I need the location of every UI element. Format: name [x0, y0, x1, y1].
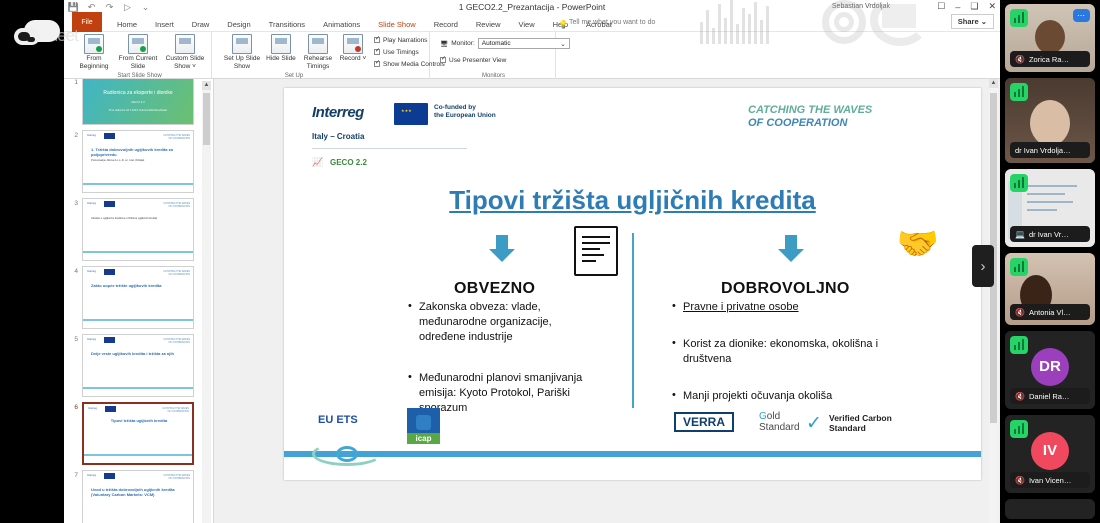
- thumbnail-row-4[interactable]: 4 Interreg CATCHING THE WAVESOF COOPERAT…: [64, 266, 213, 329]
- custom-slide-show-label: Custom Slide Show ˅: [161, 55, 209, 70]
- title-bar: 💾 ↶ ↷ ▷ ⌄ 1 GECO2.2_Prezantacija - Power…: [64, 0, 1000, 18]
- thumb-wave: [83, 319, 193, 321]
- right-heading: DOBROVOLJNO: [721, 280, 850, 298]
- mic-muted-icon: 🔇: [1015, 55, 1025, 64]
- verified-carbon-standard-logo: Verified CarbonStandard: [829, 413, 892, 433]
- eu-funding-text: Co-funded bythe European Union: [434, 104, 496, 120]
- bullet-item: Korist za dionike: ekonomska, okolišna i…: [672, 337, 922, 367]
- thumb-wave: [83, 251, 193, 253]
- tab-draw[interactable]: Draw: [183, 18, 219, 32]
- network-quality-icon: [1010, 420, 1028, 438]
- thumb-eu-flag-icon: [105, 406, 116, 412]
- rehearse-timings-icon: [308, 34, 328, 54]
- thumbnail-row-7[interactable]: 7 Interreg CATCHING THE WAVESOF COOPERAT…: [64, 470, 213, 523]
- thumb-tagline: CATCHING THE WAVESOF COOPERATION: [163, 202, 190, 208]
- thumb-eu-flag-icon: [104, 473, 115, 479]
- tab-record[interactable]: Record: [425, 18, 467, 32]
- bullet-item: Pravne i privatne osobe: [672, 300, 922, 315]
- slide-thumbnail[interactable]: Interreg CATCHING THE WAVESOF COOPERATIO…: [82, 266, 194, 329]
- thumb-body: Ukratko o ugljikovim kreditima i tržišti…: [91, 217, 187, 220]
- more-options-icon[interactable]: ⋯: [1073, 9, 1090, 22]
- participant-tile[interactable]: IV 🔇 Ivan Vicen…: [1005, 415, 1095, 493]
- group-set-up: Set Up Slide Show Hide Slide Rehearse Ti…: [214, 32, 430, 79]
- gold-standard-logo: GoldStandard: [759, 411, 800, 433]
- from-current-slide-button[interactable]: From Current Slide: [116, 34, 160, 70]
- mic-muted-icon: 🔇: [1015, 476, 1025, 485]
- checkbox-use-presenter-view[interactable]: Use Presenter View: [440, 56, 506, 64]
- monitor-icon: 🖥: [440, 40, 448, 48]
- use-presenter-view-label: Use Presenter View: [449, 57, 506, 64]
- right-bullets: Pravne i privatne osobe Korist za dionik…: [672, 300, 922, 417]
- thumb-number: 6: [64, 402, 78, 465]
- thumb-title: Radionica za eksperte i dionike: [83, 90, 193, 96]
- slide-canvas[interactable]: Interreg Co-funded bythe European Union …: [284, 88, 981, 480]
- tagline-line1: CATCHING THE WAVES: [748, 104, 872, 116]
- footer-swirl-inner-decor: [336, 446, 358, 462]
- bullet-item: Zakonska obveza: vlade, međunarodne orga…: [408, 300, 593, 345]
- slide-thumbnail[interactable]: Radionica za eksperte i dionike GECO 2.2…: [82, 79, 194, 125]
- thumb-wave: [83, 387, 193, 389]
- mic-muted-icon: 🔇: [1015, 308, 1025, 317]
- thumbnail-row-1[interactable]: 1 Radionica za eksperte i dionike GECO 2…: [64, 79, 213, 125]
- project-name: GECO 2.2: [330, 158, 367, 167]
- participant-tile-partial[interactable]: [1005, 499, 1095, 519]
- thumb-eu-flag-icon: [104, 133, 115, 139]
- thumb-number: 7: [64, 470, 78, 523]
- participant-tile[interactable]: 🔇 Antonia Vl…: [1005, 253, 1095, 325]
- thumb-brand: Interreg: [87, 202, 96, 205]
- participant-tile-screenshare[interactable]: 💻 dr Ivan Vr…: [1005, 169, 1095, 247]
- group-start-slide-show: From Beginning From Current Slide Custom…: [68, 32, 212, 79]
- use-timings-label: Use Timings: [383, 49, 419, 56]
- thumb-tagline: CATCHING THE WAVESOF COOPERATION: [163, 270, 190, 276]
- slide-thumbnail-pane[interactable]: 1 Radionica za eksperte i dionike GECO 2…: [64, 79, 214, 523]
- presenting-icon: 💻: [1015, 230, 1025, 239]
- record-label: Record ˅: [336, 55, 370, 63]
- from-beginning-button[interactable]: From Beginning: [72, 34, 116, 70]
- next-panel-chevron-icon[interactable]: ›: [972, 245, 994, 287]
- participant-name: dr Ivan Vrdolja…: [1015, 146, 1071, 155]
- thumb-number: 3: [64, 198, 78, 261]
- participant-name-bar: 🔇 Zorica Ra…: [1010, 51, 1090, 67]
- thumb-title: Tipovi tržišta ugljicnih kredita: [92, 418, 186, 423]
- icap-logo: icap: [407, 408, 440, 444]
- thumb-brand: Interreg: [87, 474, 96, 477]
- thumb-brand: Interreg: [88, 407, 97, 410]
- participant-tile-active[interactable]: dr Ivan Vrdolja…: [1005, 78, 1095, 163]
- rehearse-timings-button[interactable]: Rehearse Timings: [298, 34, 338, 70]
- participant-name: Zorica Ra…: [1029, 55, 1069, 64]
- thumbnail-row-2[interactable]: 2 Interreg CATCHING THE WAVESOF COOPERAT…: [64, 130, 213, 193]
- eu-ets-label: EU ETS: [318, 414, 358, 426]
- set-up-slide-show-icon: [232, 34, 252, 54]
- canvas-scrollbar[interactable]: ▲ ▼: [989, 79, 998, 523]
- thumb-title: Zašto uopće tržište ugljikovih kredita: [91, 283, 187, 288]
- tagline-line2: OF COOPERATION: [748, 117, 847, 129]
- participant-name-bar: 🔇 Antonia Vl…: [1010, 304, 1090, 320]
- geco-icon: 📈: [312, 157, 323, 168]
- thumb-tagline: CATCHING THE WAVESOF COOPERATION: [163, 474, 190, 480]
- slide-thumbnail[interactable]: Interreg CATCHING THE WAVESOF COOPERATIO…: [82, 334, 194, 397]
- record-icon: [343, 34, 363, 54]
- record-button[interactable]: Record ˅: [336, 34, 370, 63]
- powerpoint-window: 💾 ↶ ↷ ▷ ⌄ 1 GECO2.2_Prezantacija - Power…: [64, 0, 1000, 523]
- thumb-tagline: CATCHING THE WAVESOF COOPERATION: [163, 134, 190, 140]
- down-arrow-icon-right: [778, 235, 804, 262]
- tab-view[interactable]: View: [509, 18, 543, 32]
- avatar-background: [1005, 499, 1095, 519]
- screen-root: meet 💾 ↶ ↷ ▷ ⌄ 1 GECO2.2_Prezantacija - …: [0, 0, 1100, 523]
- mic-muted-icon: 🔇: [1015, 392, 1025, 401]
- monitor-select[interactable]: Automatic ⌄: [478, 38, 570, 49]
- checkbox-use-timings[interactable]: Use Timings: [374, 48, 419, 56]
- monitor-label: Monitor:: [451, 40, 474, 47]
- ribbon-tab-strip: File Home Insert Draw Design Transitions…: [64, 18, 1000, 32]
- avatar: DR: [1031, 348, 1069, 386]
- minimize-icon[interactable]: –: [955, 2, 960, 12]
- from-beginning-label: From Beginning: [72, 55, 116, 70]
- participant-name-bar: 💻 dr Ivan Vr…: [1010, 226, 1090, 242]
- slide-thumbnail-selected[interactable]: Interreg CATCHING THE WAVESOF COOPERATIO…: [82, 402, 194, 465]
- participant-name: Ivan Vicen…: [1029, 476, 1071, 485]
- slide-thumbnail[interactable]: Interreg CATCHING THE WAVESOF COOPERATIO…: [82, 130, 194, 193]
- thumb-tagline: CATCHING THE WAVESOF COOPERATION: [162, 407, 189, 413]
- slide-canvas-area[interactable]: Interreg Co-funded bythe European Union …: [214, 79, 1000, 523]
- participant-name: dr Ivan Vr…: [1029, 230, 1069, 239]
- thumbnail-scrollbar[interactable]: ▲ ▼: [202, 81, 211, 523]
- eu-flag-icon: [394, 103, 428, 125]
- network-quality-icon: [1010, 336, 1028, 354]
- thumb-eu-flag-icon: [104, 201, 115, 207]
- hide-slide-button[interactable]: Hide Slide: [264, 34, 298, 63]
- thumb-title: Uvod u tržišta dobrovoljnih ugljicnih kr…: [91, 487, 187, 497]
- checkbox-icon: [374, 37, 380, 43]
- thumb-wave: [84, 454, 192, 456]
- network-quality-icon: [1010, 258, 1028, 276]
- thumb-body: Prezentacija: Ašima d.o.o. dr. sc. Ivan …: [91, 159, 187, 162]
- scroll-up-icon[interactable]: ▲: [202, 81, 211, 90]
- thumb-number: 4: [64, 266, 78, 329]
- tell-me-search[interactable]: Tell me what you want to do: [569, 19, 655, 26]
- tab-design[interactable]: Design: [218, 18, 259, 32]
- hide-slide-icon: [271, 34, 291, 54]
- from-beginning-icon: [84, 34, 104, 54]
- down-arrow-icon-left: [489, 235, 515, 262]
- chevron-down-icon: ⌄: [560, 40, 565, 48]
- bullet-item: Manji projekti očuvanja okoliša: [672, 389, 922, 404]
- thumb-number: 2: [64, 130, 78, 193]
- rehearse-timings-label: Rehearse Timings: [298, 55, 338, 70]
- slide-thumbnail[interactable]: Interreg CATCHING THE WAVESOF COOPERATIO…: [82, 470, 194, 523]
- verified-carbon-check-icon: ✓: [806, 412, 822, 435]
- interreg-logo: Interreg: [312, 104, 364, 121]
- partner-logos-row: EU ETS icap VERRA GoldStandard ✓ Verifie…: [284, 408, 981, 448]
- scroll-thumb[interactable]: [203, 93, 210, 145]
- meet-logo-icon: [12, 16, 62, 50]
- thumb-eu-flag-icon: [104, 269, 115, 275]
- window-controls[interactable]: ☐ – ❑ ✕: [937, 1, 996, 12]
- tab-animations[interactable]: Animations: [314, 18, 369, 32]
- hide-slide-label: Hide Slide: [264, 55, 298, 63]
- tab-review[interactable]: Review: [467, 18, 510, 32]
- thumb-brand: Interreg: [87, 134, 96, 137]
- column-divider: [632, 233, 634, 408]
- thumb-eu-flag-icon: [104, 337, 115, 343]
- handshake-icon: 🤝: [897, 224, 939, 264]
- thumbnail-row-6[interactable]: 6 Interreg CATCHING THE WAVESOF COOPERAT…: [64, 402, 213, 465]
- slide-thumbnail[interactable]: Interreg CATCHING THE WAVESOF COOPERATIO…: [82, 198, 194, 261]
- restore-icon[interactable]: ❑: [970, 1, 978, 12]
- footer-wave-band: [284, 451, 981, 457]
- document-signature-icon: [574, 226, 618, 276]
- checkbox-icon: [440, 57, 446, 63]
- thumbnail-row-5[interactable]: 5 Interreg CATCHING THE WAVESOF COOPERAT…: [64, 334, 213, 397]
- network-quality-icon: [1010, 83, 1028, 101]
- network-quality-icon: [1010, 9, 1028, 27]
- participant-tile[interactable]: ⋯ 🔇 Zorica Ra…: [1005, 4, 1095, 72]
- avatar: IV: [1031, 432, 1069, 470]
- tab-home[interactable]: Home: [108, 18, 146, 32]
- checkbox-icon: [374, 61, 380, 67]
- tab-transitions[interactable]: Transitions: [260, 18, 314, 32]
- participant-name-bar: 🔇 Daniel Ra…: [1010, 388, 1090, 404]
- ribbon-body: From Beginning From Current Slide Custom…: [64, 32, 1000, 79]
- scroll-up-icon[interactable]: ▲: [989, 79, 998, 88]
- custom-slide-show-button[interactable]: Custom Slide Show ˅: [161, 34, 209, 70]
- ribbon-tabs: Home Insert Draw Design Transitions Anim…: [108, 18, 621, 32]
- header-divider: [312, 148, 467, 149]
- slide-tagline: CATCHING THE WAVES OF COOPERATION: [748, 104, 933, 130]
- from-current-slide-icon: [128, 34, 148, 54]
- person-silhouette: [1030, 100, 1070, 146]
- verra-logo: VERRA: [674, 412, 734, 432]
- thumb-brand: Interreg: [87, 270, 96, 273]
- network-quality-icon: [1010, 174, 1028, 192]
- share-label: Share: [958, 17, 979, 26]
- checkbox-icon: [374, 49, 380, 55]
- thumb-number: 5: [64, 334, 78, 397]
- programme-name: Italy – Croatia: [312, 132, 364, 141]
- participant-name: Daniel Ra…: [1029, 392, 1069, 401]
- thumb-sub: GECO 2.2: [83, 100, 193, 104]
- group-monitors: 🖥 Monitor: Automatic ⌄ Use Presenter Vie…: [432, 32, 556, 79]
- thumb-number: 1: [64, 79, 78, 125]
- play-narrations-label: Play Narrations: [383, 37, 427, 44]
- from-current-slide-label: From Current Slide: [116, 55, 160, 70]
- share-button[interactable]: Share ⌄: [951, 14, 994, 29]
- tab-insert[interactable]: Insert: [146, 18, 183, 32]
- monitor-value: Automatic: [482, 40, 511, 47]
- icap-label: icap: [407, 433, 440, 444]
- thumb-tagline: CATCHING THE WAVESOF COOPERATION: [163, 338, 190, 344]
- left-heading: OBVEZNO: [454, 280, 535, 298]
- close-icon[interactable]: ✕: [988, 1, 996, 12]
- thumb-title: 1. Tržišta dobrovoljnih ugljikovih kredi…: [91, 147, 187, 157]
- thumb-wave: [83, 183, 193, 185]
- work-area: 1 Radionica za eksperte i dionike GECO 2…: [64, 79, 1000, 523]
- participant-name: Antonia Vl…: [1029, 308, 1071, 317]
- set-up-slide-show-button[interactable]: Set Up Slide Show: [220, 34, 264, 70]
- custom-slide-show-icon: [175, 34, 195, 54]
- participant-rail[interactable]: ⋯ 🔇 Zorica Ra… dr Ivan Vrdolja…: [1000, 0, 1100, 523]
- participant-name-bar: 🔇 Ivan Vicen…: [1010, 472, 1090, 488]
- eu-ets-logo: EU ETS: [318, 414, 358, 426]
- thumbnail-row-3[interactable]: 3 Interreg CATCHING THE WAVESOF COOPERAT…: [64, 198, 213, 261]
- thumb-title: Dvije vrste ugljikovih kredita i tržišta…: [91, 351, 187, 356]
- lightbulb-icon: 💡: [558, 20, 568, 29]
- monitor-row: 🖥 Monitor: Automatic ⌄: [440, 38, 570, 49]
- participant-tile[interactable]: DR 🔇 Daniel Ra…: [1005, 331, 1095, 409]
- ribbon-display-options-icon[interactable]: ☐: [937, 1, 945, 12]
- thumb-sub2: Prva radionica 04.7.2023. Dubrovnik/Rudi…: [83, 109, 193, 112]
- tab-slide-show[interactable]: Slide Show: [369, 18, 425, 32]
- slide-title: Tipovi tržišta ugljičnih kredita: [284, 185, 981, 216]
- account-name[interactable]: Sebastian Vrdoljak: [832, 3, 890, 10]
- set-up-slide-show-label: Set Up Slide Show: [220, 55, 264, 70]
- checkbox-play-narrations[interactable]: Play Narrations: [374, 36, 427, 44]
- participant-name-bar: dr Ivan Vrdolja…: [1010, 142, 1090, 158]
- thumb-brand: Interreg: [87, 338, 96, 341]
- person-silhouette: [1035, 20, 1065, 54]
